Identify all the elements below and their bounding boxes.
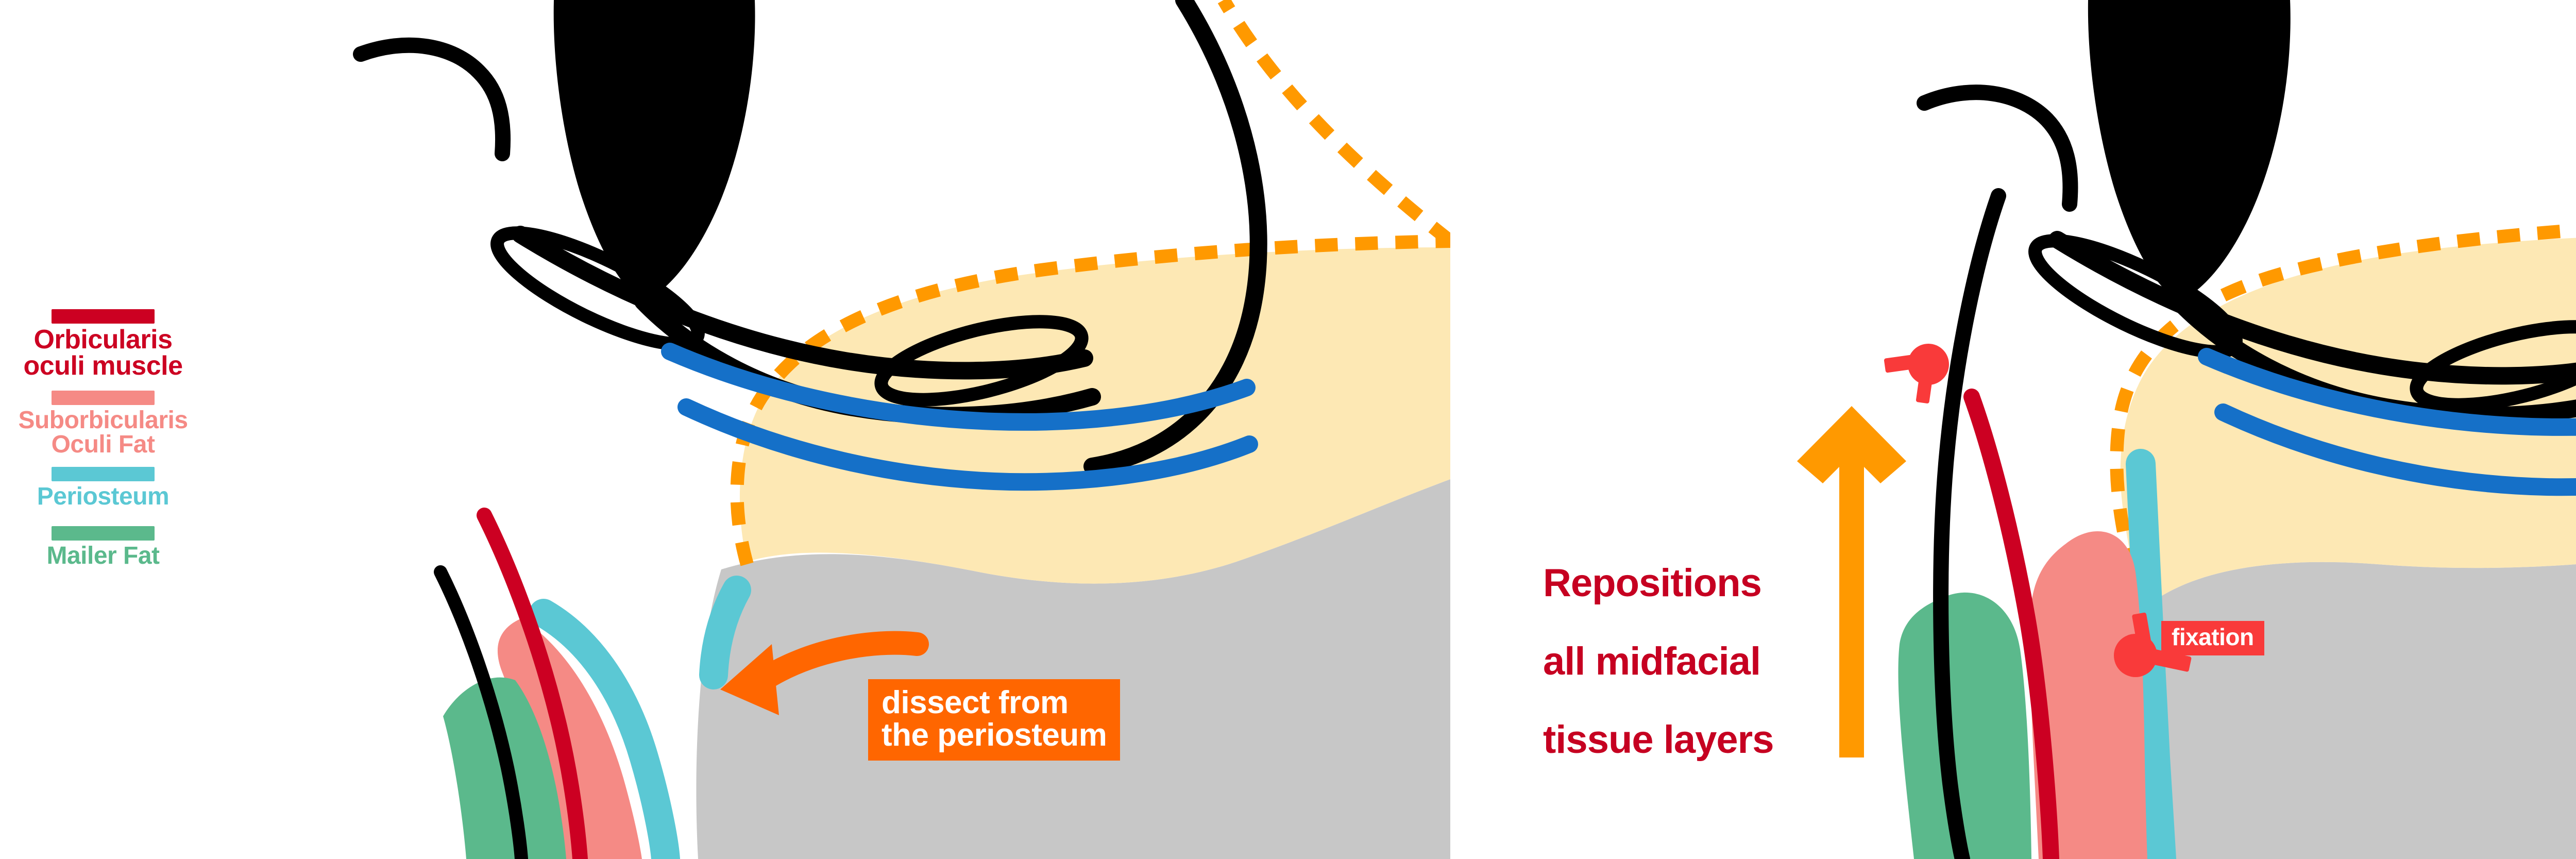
legend-item-orbicularis: Orbicularis oculi muscle — [0, 309, 206, 379]
legend-label-orbicularis: Orbicularis oculi muscle — [0, 327, 206, 379]
preop-anatomy-illustration — [0, 0, 1450, 859]
reposition-arrow — [1797, 406, 1906, 757]
fixation-label: fixation — [2161, 621, 2264, 655]
reposition-annotation-line: tissue layers — [1543, 720, 1774, 760]
legend-swatch-malar-fat — [52, 526, 155, 541]
upper-lid-crease — [361, 45, 503, 154]
legend-item-periosteum: Periosteum — [0, 467, 206, 509]
legend-label-line: oculi muscle — [0, 353, 206, 379]
upper-lid-crease — [1924, 92, 2070, 204]
legend-label-malar-fat: Mailer Fat — [0, 544, 206, 568]
legend-label-line: Suborbicularis — [0, 408, 206, 432]
dissect-callout-line: the periosteum — [882, 719, 1107, 751]
legend-swatch-periosteum — [52, 467, 155, 481]
dissect-callout-box: dissect from the periosteum — [868, 679, 1120, 761]
reposition-annotation-line: all midfacial — [1543, 642, 1774, 681]
suture-marker-upper — [1884, 344, 1949, 403]
dissect-callout-line: dissect from — [882, 686, 1107, 719]
legend-swatch-soof — [52, 391, 155, 405]
legend-item-soof: Suborbicularis Oculi Fat — [0, 391, 206, 457]
diagram-canvas: Orbicularis oculi muscle Suborbicularis … — [0, 0, 2576, 859]
legend-item-malar-fat: Mailer Fat — [0, 526, 206, 568]
legend-label-line: Mailer Fat — [0, 544, 206, 568]
legend-label-soof: Suborbicularis Oculi Fat — [0, 408, 206, 457]
panel-preop: Orbicularis oculi muscle Suborbicularis … — [0, 0, 1450, 859]
legend-swatch-orbicularis — [52, 309, 155, 324]
legend-label-line: Oculi Fat — [0, 432, 206, 457]
legend: Orbicularis oculi muscle Suborbicularis … — [0, 309, 206, 572]
reposition-annotation-line: Repositions — [1543, 564, 1774, 603]
legend-label-line: Periosteum — [0, 484, 206, 509]
legend-label-line: Orbicularis — [0, 327, 206, 353]
reposition-annotation: Repositions all midfacial tissue layers — [1543, 525, 1774, 799]
legend-label-periosteum: Periosteum — [0, 484, 206, 509]
malar-fat-layer — [1898, 593, 2031, 859]
